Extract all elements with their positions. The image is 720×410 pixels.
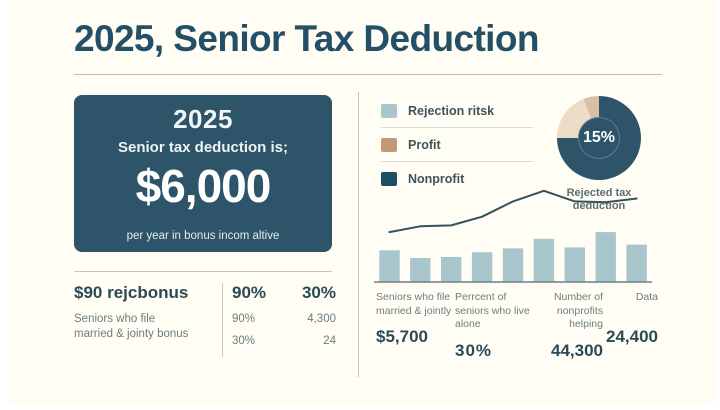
stat-seniors-alone: Perrcent of seniors who live alone 30% xyxy=(455,291,531,361)
stat-label: Perrcent of seniors who live alone xyxy=(455,291,531,332)
chart-bar xyxy=(565,247,585,282)
table-vertical-divider xyxy=(222,283,223,357)
left-stats-table: $90 rejcbonus Seniors who file married &… xyxy=(74,283,336,375)
table-cell-r2c2: 24 xyxy=(323,335,336,347)
chart-bar xyxy=(503,248,523,282)
stats-row: Seniors who file married & jointly $5,70… xyxy=(376,291,658,361)
table-values-column: 90% 30% 90% 4,300 30% 24 xyxy=(232,283,336,347)
legend-swatch-icon xyxy=(381,104,397,118)
chart-bar xyxy=(626,245,646,282)
hero-card: 2025 Senior tax deduction is; $6,000 per… xyxy=(74,95,332,252)
hero-note: per year in bonus incom altive xyxy=(74,230,332,242)
legend-label: Rejection ritsk xyxy=(408,104,494,118)
table-cell-r1c2: 4,300 xyxy=(307,313,336,325)
chart-bar xyxy=(410,258,430,282)
stat-value: $5,700 xyxy=(376,327,455,347)
title-divider xyxy=(74,74,662,75)
table-cell-r2c1: 30% xyxy=(232,335,255,347)
stat-value: 30% xyxy=(455,341,531,361)
table-row: 90% 4,300 xyxy=(232,313,336,325)
stat-label: Seniors who file married & jointly xyxy=(376,291,455,318)
table-divider xyxy=(74,271,332,272)
donut-center-value: 15% xyxy=(578,117,620,159)
legend-swatch-icon xyxy=(381,138,397,152)
legend-separator xyxy=(381,127,533,128)
donut-ring: 15% xyxy=(557,96,641,180)
chart-bar xyxy=(379,250,399,282)
chart-trend-line xyxy=(389,191,636,232)
legend-label: Profit xyxy=(408,138,441,152)
hero-subtitle: Senior tax deduction is; xyxy=(74,139,332,156)
legend-item-profit: Profit xyxy=(381,130,533,159)
table-label-column: $90 rejcbonus Seniors who file married &… xyxy=(74,283,214,342)
chart-svg xyxy=(374,186,652,284)
chart-legend: Rejection ritsk Profit Nonprofit xyxy=(381,96,533,193)
table-description: Seniors who file married & jointy bonus xyxy=(74,312,194,342)
stat-value: 24,400 xyxy=(603,327,658,347)
chart-bar xyxy=(472,252,492,282)
legend-swatch-icon xyxy=(381,172,397,186)
chart-bars xyxy=(379,232,647,282)
infographic-canvas: 2025, Senior Tax Deduction 2025 Senior t… xyxy=(0,0,720,410)
table-header-row: 90% 30% xyxy=(232,283,336,303)
chart-bar xyxy=(596,232,616,282)
column-divider xyxy=(358,92,359,377)
table-cell-r1c1: 90% xyxy=(232,313,255,325)
page-title: 2025, Senior Tax Deduction xyxy=(74,18,674,60)
stat-label: Data xyxy=(603,291,658,305)
table-row: 30% 24 xyxy=(232,335,336,347)
stat-label: Number of nonprofits helping xyxy=(531,291,603,332)
stat-nonprofits: Number of nonprofits helping 44,300 xyxy=(531,291,603,361)
legend-separator xyxy=(381,161,533,162)
chart-bar xyxy=(534,239,554,282)
hero-amount: $6,000 xyxy=(74,159,332,213)
table-header-cell-1: 90% xyxy=(232,283,266,303)
stat-value: 44,300 xyxy=(531,341,603,361)
stat-data: Data 24,400 xyxy=(603,291,658,361)
stat-seniors-married: Seniors who file married & jointly $5,70… xyxy=(376,291,455,361)
legend-label: Nonprofit xyxy=(408,172,464,186)
chart-bar xyxy=(441,257,461,282)
table-header-cell-2: 30% xyxy=(302,283,336,303)
hero-year: 2025 xyxy=(74,104,332,135)
bar-line-chart xyxy=(374,186,652,284)
table-title: $90 rejcbonus xyxy=(74,283,214,303)
legend-item-rejection: Rejection ritsk xyxy=(381,96,533,125)
